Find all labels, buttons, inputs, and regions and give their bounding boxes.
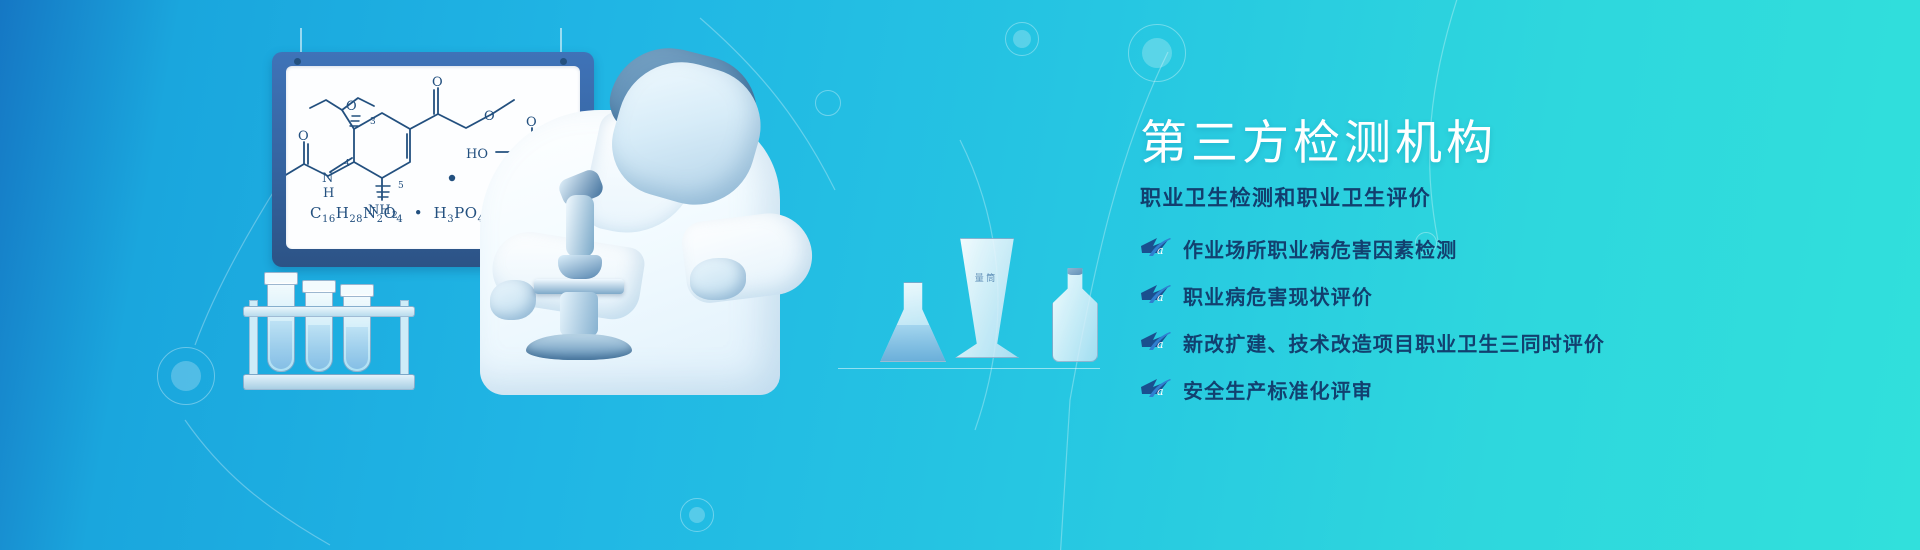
whiteboard-hole-left: [294, 58, 301, 65]
cylinder-label: 量 筒: [972, 273, 998, 284]
wing-arrow-icon: a: [1140, 283, 1172, 307]
wing-arrow-glyph: a: [1140, 283, 1172, 307]
list-item[interactable]: a 安全生产标准化评审: [1140, 375, 1860, 404]
tube-liquid: [308, 325, 330, 369]
tube-cap: [264, 272, 298, 285]
page-title: 第三方检测机构: [1140, 118, 1860, 169]
list-item[interactable]: a 职业病危害现状评价: [1140, 281, 1860, 310]
atom-label-o-ether: O: [346, 99, 357, 114]
dropper-bottle: [1052, 268, 1098, 362]
microscope-base: [526, 334, 632, 360]
svg-text:a: a: [1157, 385, 1164, 398]
dropper-bulb: [1064, 249, 1086, 275]
wing-arrow-glyph: a: [1140, 377, 1172, 401]
atom-label-o-amide: O: [298, 129, 309, 144]
test-tube-1: [267, 282, 295, 372]
wing-arrow-glyph: a: [1140, 330, 1172, 354]
list-item-label: 新改扩建、技术改造项目职业卫生三同时评价: [1183, 328, 1605, 357]
stereo-number-4: 4: [344, 159, 350, 169]
rack-base: [243, 374, 415, 390]
test-tube-rack: [243, 258, 413, 390]
svg-text:a: a: [1157, 291, 1164, 304]
microscope-arm: [560, 292, 598, 336]
hero-text-panel: 第三方检测机构 职业卫生检测和职业卫生评价 a 作业场所职业病危害因素检测: [1140, 118, 1860, 422]
bench-line: [838, 368, 1100, 369]
deco-dot: [1142, 38, 1172, 68]
page-subtitle: 职业卫生检测和职业卫生评价: [1140, 182, 1860, 212]
microscope-body-tube: [566, 195, 594, 257]
wing-arrow-icon: a: [1140, 330, 1172, 354]
deco-node-1: [1128, 24, 1186, 82]
list-item-label: 作业场所职业病危害因素检测: [1183, 234, 1457, 263]
wing-arrow-glyph: a: [1140, 236, 1172, 260]
right-hand: [690, 258, 746, 300]
test-tube-2: [305, 290, 333, 372]
microscope-nosepiece: [558, 255, 602, 279]
wing-arrow-icon: a: [1140, 377, 1172, 401]
tube-liquid: [346, 327, 368, 369]
deco-ring: [1128, 24, 1186, 82]
stereo-number-5: 5: [398, 181, 404, 191]
svg-text:a: a: [1157, 338, 1164, 351]
microscope: [520, 150, 638, 360]
atom-label-n: N: [322, 171, 333, 186]
list-item-label: 职业病危害现状评价: [1183, 281, 1373, 310]
tube-cap: [302, 280, 336, 293]
flask-liquid: [881, 325, 945, 361]
rack-top-bar: [243, 306, 415, 317]
laboratory-illustration: O O O O N H NH 2 O P OH HO OH 3: [0, 0, 1120, 550]
service-list: a 作业场所职业病危害因素检测 a 职业病危害现状评价: [1140, 234, 1860, 404]
tube-liquid: [270, 321, 292, 369]
list-item-label: 安全生产标准化评审: [1183, 375, 1373, 404]
banner-hero: O O O O N H NH 2 O P OH HO OH 3: [0, 0, 1920, 550]
list-item[interactable]: a 新改扩建、技术改造项目职业卫生三同时评价: [1140, 328, 1860, 357]
list-item[interactable]: a 作业场所职业病危害因素检测: [1140, 234, 1860, 263]
atom-label-h: H: [323, 186, 334, 201]
stereo-number-3: 3: [370, 117, 376, 127]
graduated-cylinder: 量 筒: [955, 238, 1019, 358]
svg-text:a: a: [1157, 244, 1164, 257]
wing-arrow-icon: a: [1140, 236, 1172, 260]
erlenmeyer-flask: [880, 282, 946, 362]
tube-cap: [340, 284, 374, 297]
